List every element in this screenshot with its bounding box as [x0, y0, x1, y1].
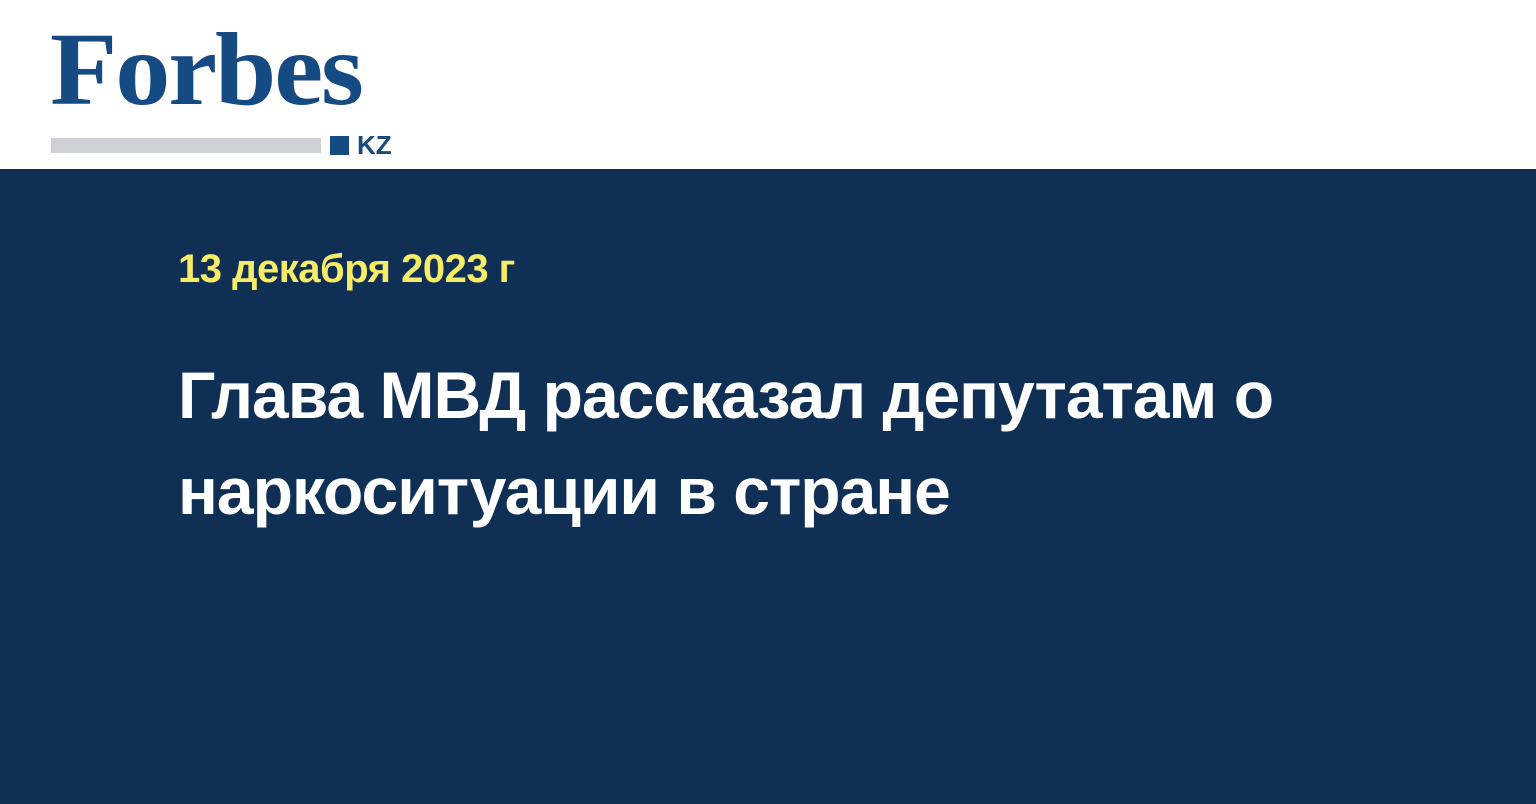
article-hero: 13 декабря 2023 г Глава МВД рассказал де… — [0, 169, 1536, 804]
logo-country-code: KZ — [357, 132, 392, 158]
article-date: 13 декабря 2023 г — [178, 247, 515, 291]
forbes-wordmark: Forbes — [50, 18, 432, 122]
logo-underline-bar — [51, 138, 321, 153]
site-header: Forbes KZ — [0, 0, 1536, 169]
forbes-kz-logo[interactable]: Forbes KZ — [50, 18, 410, 148]
article-headline: Глава МВД рассказал депутатам о наркосит… — [178, 347, 1338, 539]
logo-square-icon — [330, 136, 349, 155]
article-hero-page: Forbes KZ 13 декабря 2023 г Глава МВД ра… — [0, 0, 1536, 804]
